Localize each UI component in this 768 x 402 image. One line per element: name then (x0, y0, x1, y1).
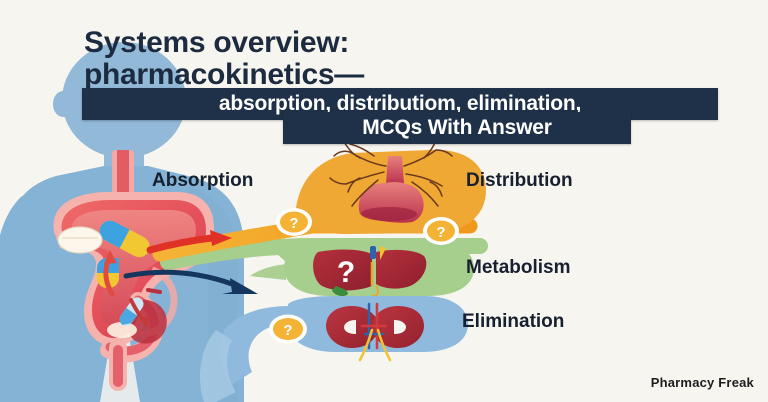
label-distribution: Distribution (466, 170, 573, 192)
question-badge-elimination[interactable]: ? (269, 315, 307, 344)
illustration: ? (0, 0, 768, 402)
question-mark-liver: ? (337, 256, 355, 289)
question-badge-distribution[interactable]: ? (276, 208, 312, 236)
pill-tablet-white (58, 227, 102, 253)
svg-text:?: ? (289, 215, 298, 232)
svg-text:?: ? (283, 322, 292, 339)
label-metabolism: Metabolism (466, 257, 571, 279)
watermark-pharmacy-freak: Pharmacy Freak (651, 375, 754, 390)
question-badge-metabolism[interactable]: ? (423, 217, 459, 245)
poster-canvas: ? (0, 0, 768, 402)
svg-text:?: ? (436, 224, 445, 241)
label-elimination: Elimination (462, 311, 564, 333)
label-absorption: Absorption (152, 170, 253, 192)
